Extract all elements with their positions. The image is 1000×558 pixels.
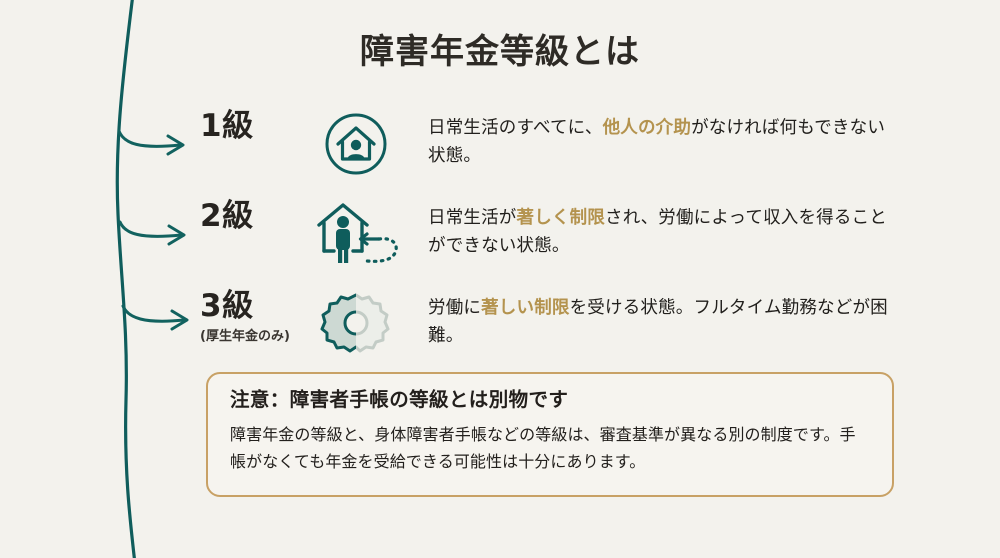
note-callout-box: 注意：障害者手帳の等級とは別物です 障害年金の等級と、身体障害者手帳などの等級は…	[206, 372, 894, 497]
grade-icon-slot	[308, 108, 404, 180]
grade-row: 2級 日常生活が著しく制限され、労働によって収入を得ることができない状態。	[200, 198, 900, 274]
grade-label: 1級	[200, 110, 308, 143]
grade-label-group: 1級	[200, 108, 308, 143]
grade-label: 3級	[200, 290, 308, 323]
grade-label-group: 3級 (厚生年金のみ)	[200, 288, 308, 344]
note-heading: 注意：障害者手帳の等級とは別物です	[230, 388, 870, 411]
grade-description: 日常生活が著しく制限され、労働によって収入を得ることができない状態。	[404, 198, 900, 261]
infographic-canvas: 障害年金等級とは 1級 日常生活のすべてに、他人の介助がなければ何もできない状態…	[0, 0, 1000, 558]
grade-label-group: 2級	[200, 198, 308, 233]
desc-text-before: 日常生活が	[428, 208, 517, 228]
gear-icon	[318, 289, 394, 359]
desc-text-highlight: 著しく制限	[517, 208, 606, 228]
grade-icon-slot	[308, 288, 404, 360]
grade-sublabel: (厚生年金のみ)	[200, 325, 308, 344]
desc-text-before: 日常生活のすべてに、	[428, 118, 603, 138]
desc-text-highlight: 著しい制限	[481, 298, 570, 318]
house-person-arrow-icon	[309, 199, 403, 269]
note-body-text: 障害年金の等級と、身体障害者手帳などの等級は、審査基準が異なる別の制度です。手帳…	[230, 422, 870, 475]
house-person-circle-icon	[323, 111, 389, 177]
grade-label: 2級	[200, 200, 308, 233]
grade-row: 3級 (厚生年金のみ) 労働に著しい制限を受け	[200, 288, 900, 364]
page-title: 障害年金等級とは	[0, 24, 1000, 73]
grade-icon-slot	[308, 198, 404, 270]
grade-row: 1級 日常生活のすべてに、他人の介助がなければ何もできない状態。	[200, 108, 900, 184]
grade-description: 労働に著しい制限を受ける状態。フルタイム勤務などが困難。	[404, 288, 900, 351]
grade-description: 日常生活のすべてに、他人の介助がなければ何もできない状態。	[404, 108, 900, 171]
desc-text-highlight: 他人の介助	[603, 118, 692, 138]
desc-text-before: 労働に	[428, 298, 481, 318]
